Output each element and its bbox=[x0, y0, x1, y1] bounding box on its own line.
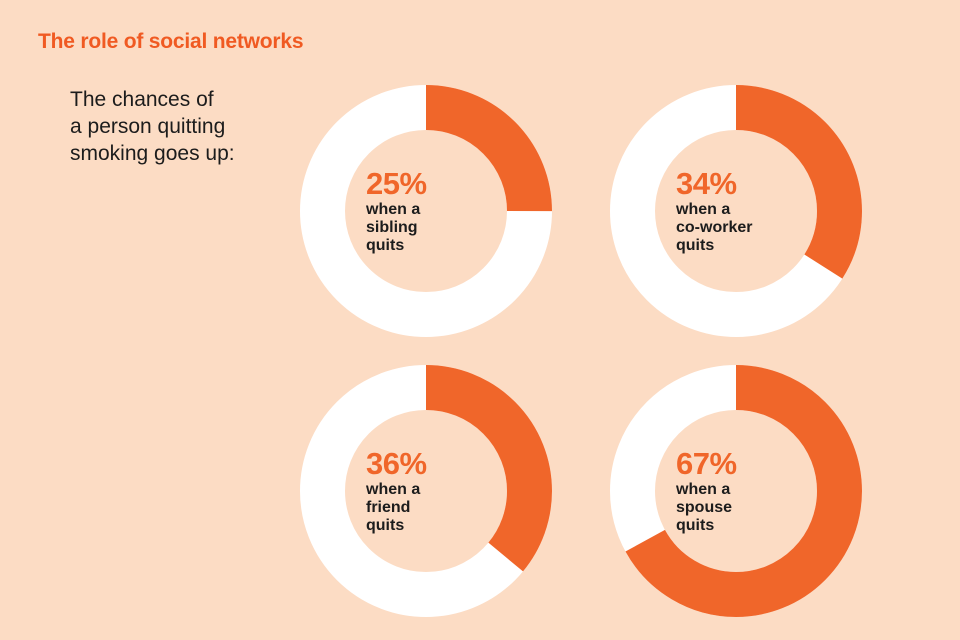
donut-chart-spouse: 67% when a spouse quits bbox=[610, 365, 862, 617]
donut-chart-co-worker: 34% when a co-worker quits bbox=[610, 85, 862, 337]
page-title: The role of social networks bbox=[38, 30, 303, 54]
donut-chart-sibling: 25% when a sibling quits bbox=[300, 85, 552, 337]
donut-svg-spouse bbox=[610, 365, 862, 617]
donut-svg-co-worker bbox=[610, 85, 862, 337]
infographic-page: The role of social networks The chances … bbox=[0, 0, 960, 640]
donut-chart-friend: 36% when a friend quits bbox=[300, 365, 552, 617]
donut-svg-sibling bbox=[300, 85, 552, 337]
donut-svg-friend bbox=[300, 365, 552, 617]
subtitle-text: The chances of a person quitting smoking… bbox=[70, 86, 235, 167]
